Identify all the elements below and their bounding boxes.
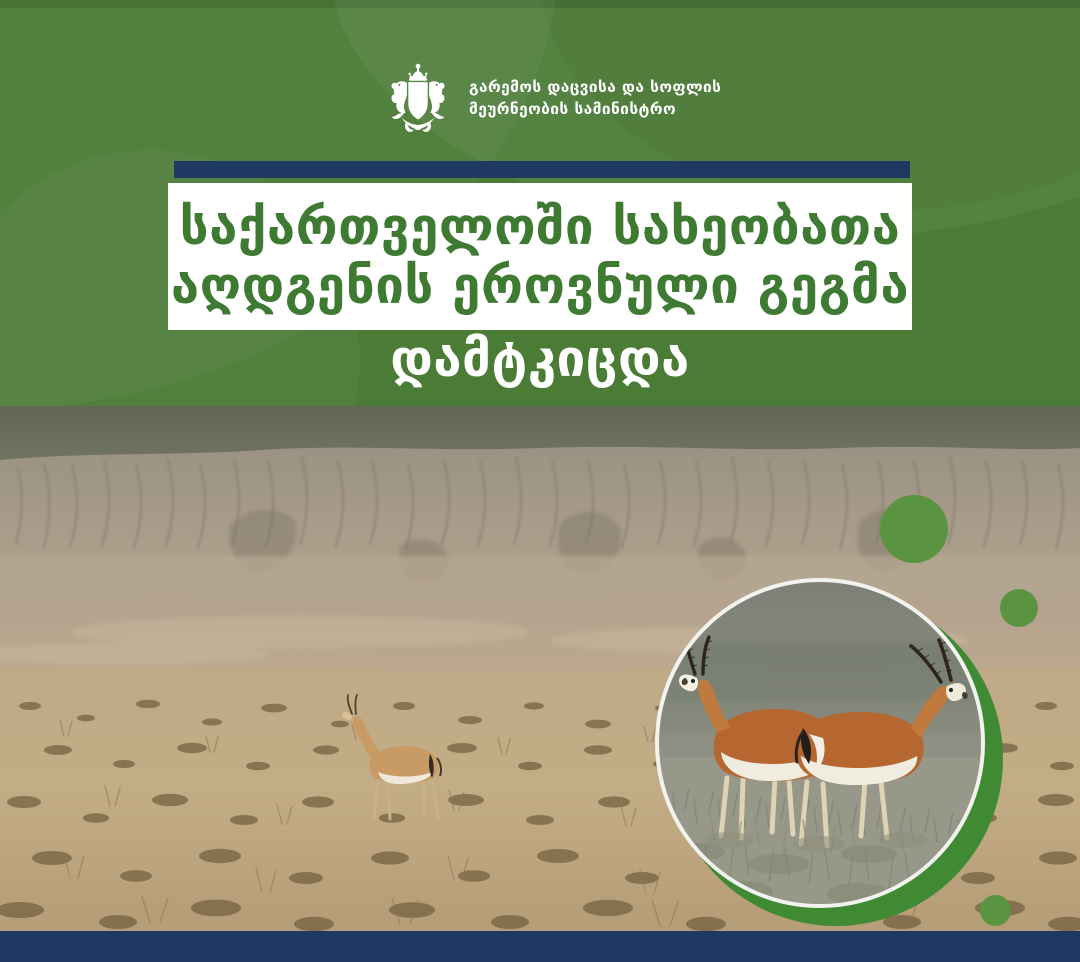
inset-ring-white bbox=[655, 578, 985, 908]
ministry-name: გარემოს დაცვისა და სოფლის მეურნეობის სამ… bbox=[469, 76, 721, 120]
gazelle-inset bbox=[655, 578, 1003, 926]
ministry-name-line2: მეურნეობის სამინისტრო bbox=[469, 98, 721, 120]
title-line-3: დამტკიცდა bbox=[0, 332, 1080, 388]
navy-rule bbox=[174, 161, 910, 178]
ministry-name-line1: გარემოს დაცვისა და სოფლის bbox=[469, 78, 721, 96]
accent-circle-medium bbox=[1000, 589, 1038, 627]
accent-circle-large bbox=[880, 495, 948, 563]
title-box: საქართველოში სახეობათა აღდგენის ეროვნული… bbox=[168, 183, 912, 330]
poster-root: გარემოს დაცვისა და სოფლის მეურნეობის სამ… bbox=[0, 0, 1080, 962]
title-line-2: აღდგენის ეროვნული გეგმა bbox=[171, 258, 909, 316]
navy-bottom-bar bbox=[0, 931, 1080, 962]
title-line-1: საქართველოში სახეობათა bbox=[180, 199, 901, 257]
ministry-lockup: გარემოს დაცვისა და სოფლის მეურნეობის სამ… bbox=[383, 62, 721, 134]
georgia-coat-of-arms-icon bbox=[383, 62, 453, 134]
